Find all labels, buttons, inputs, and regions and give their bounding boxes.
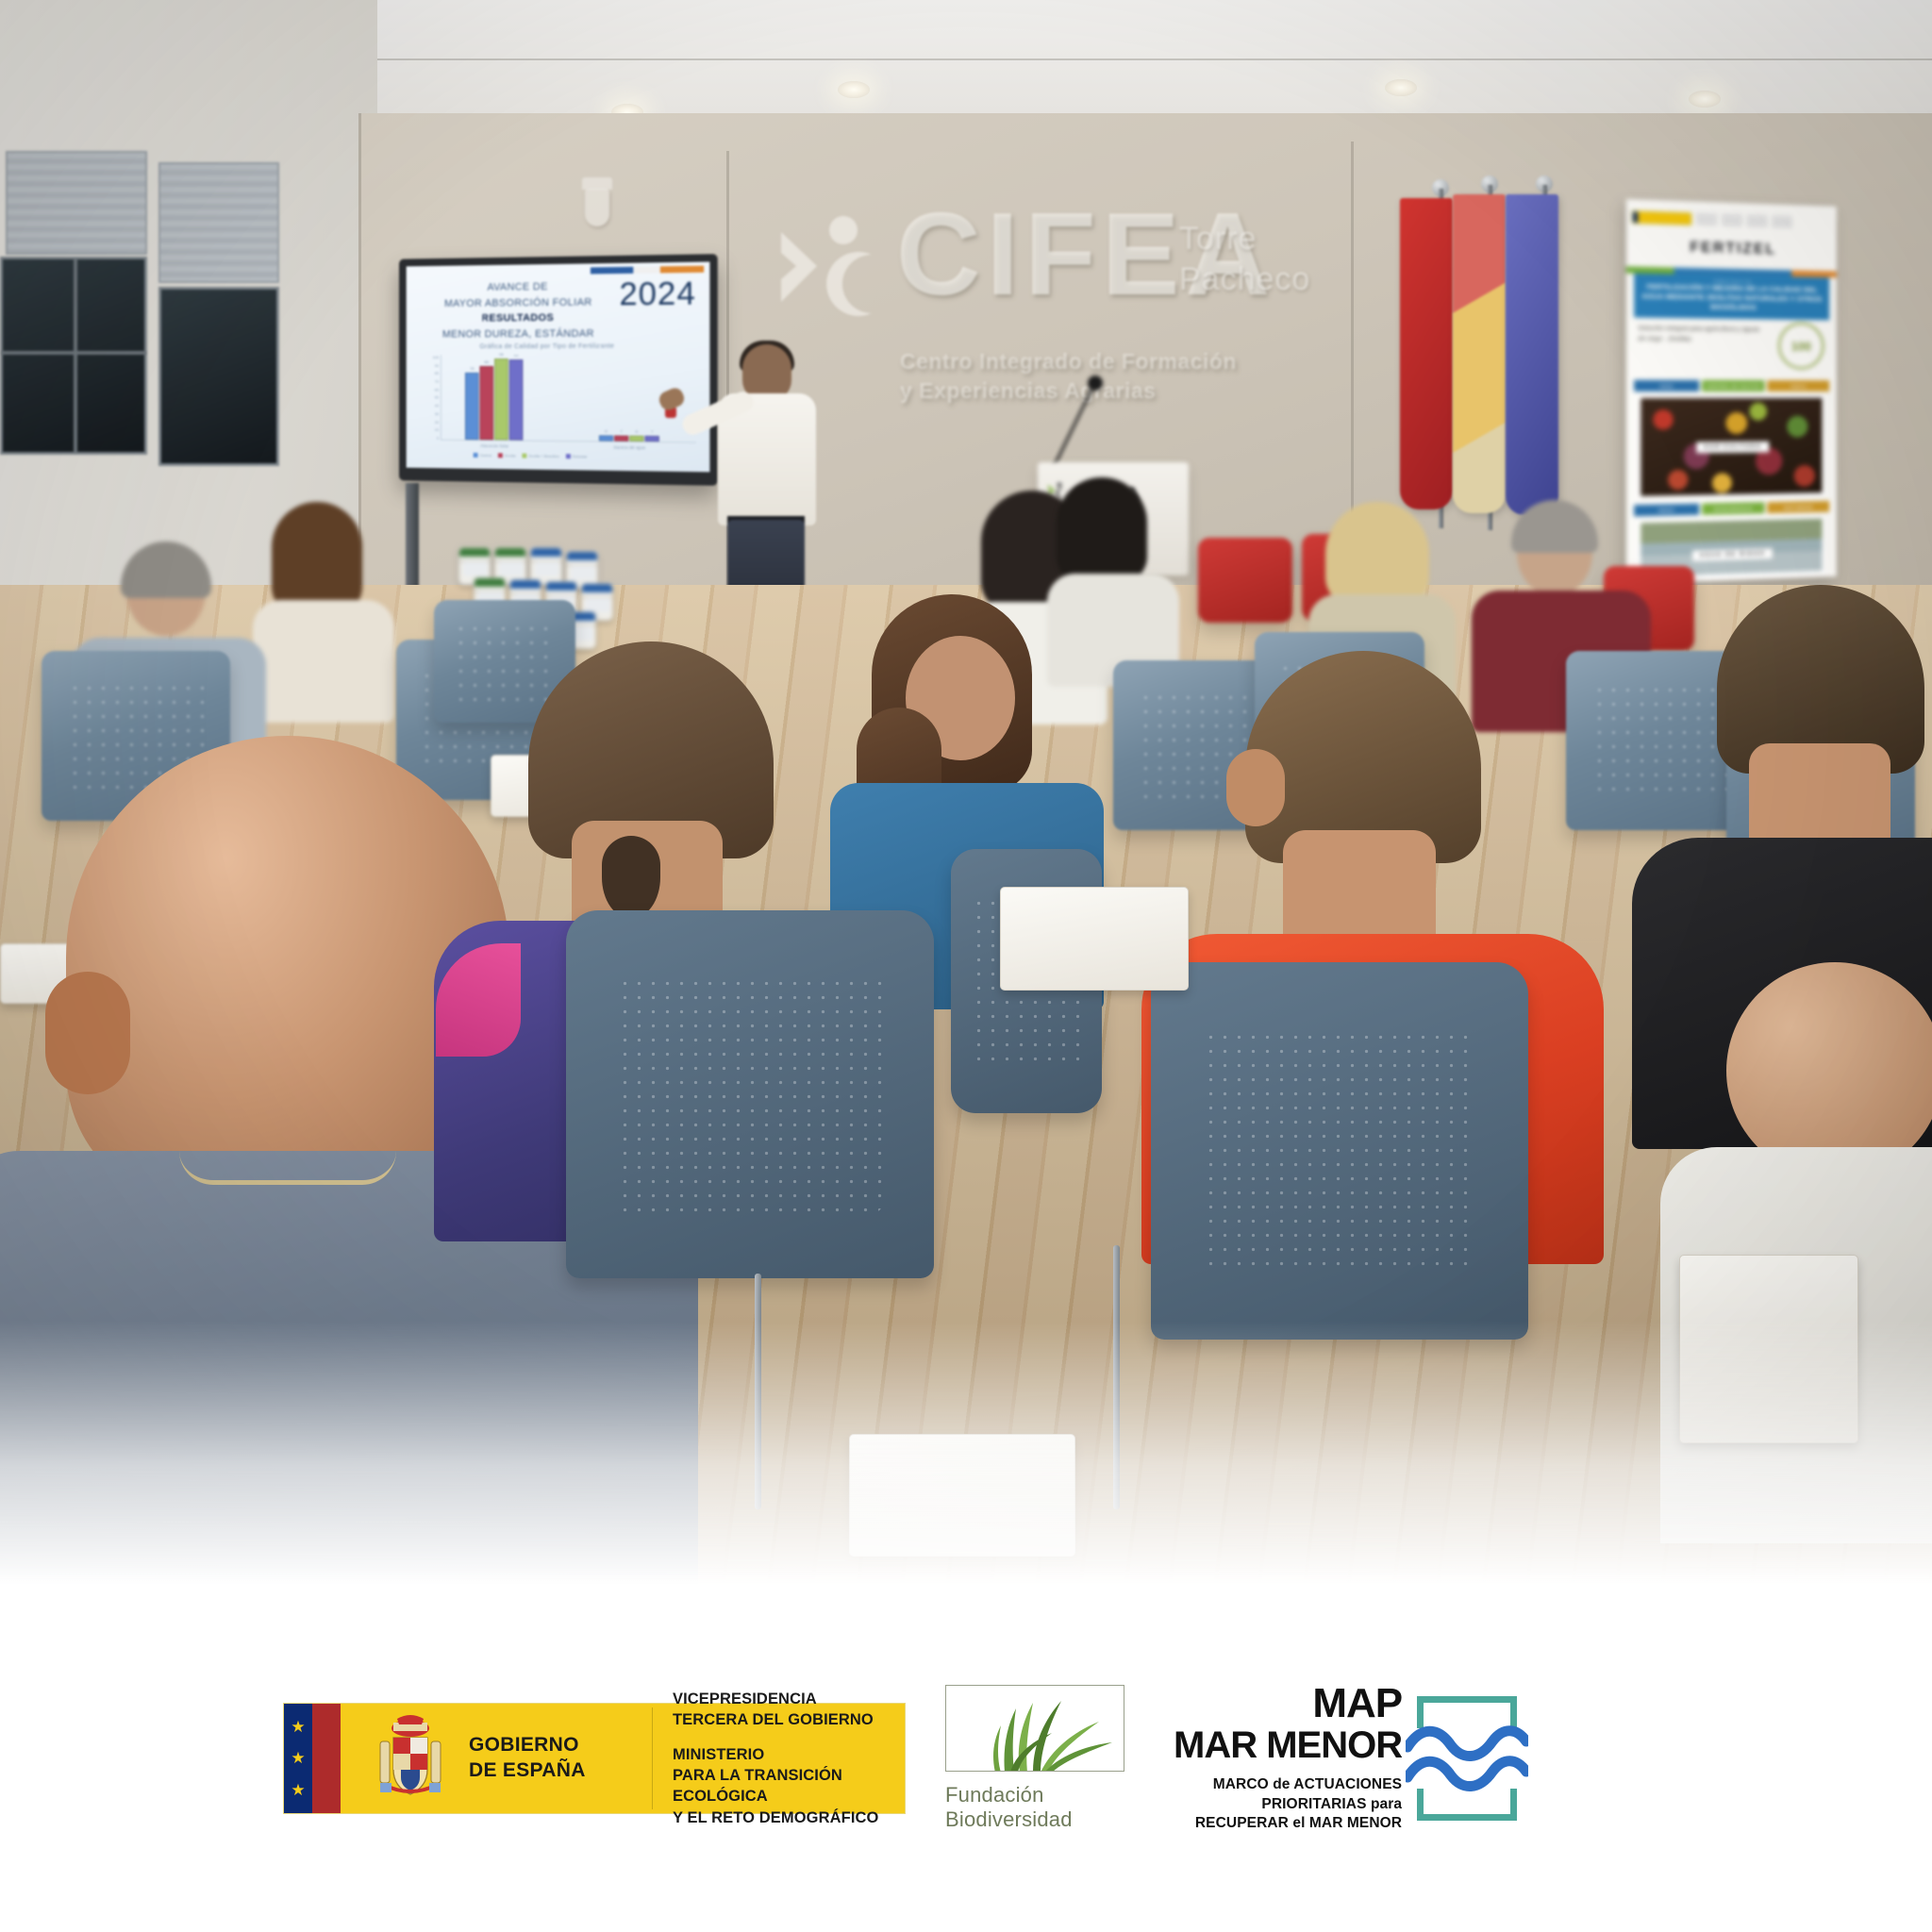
chair-writing-tablet — [849, 1434, 1075, 1557]
person-hair — [1325, 502, 1429, 606]
chart-y-tick: 20 — [435, 420, 439, 425]
slide-accent-bar — [591, 266, 704, 275]
chair — [566, 910, 934, 1278]
chart-bar: 7 — [645, 435, 659, 441]
window-blind — [158, 162, 279, 283]
logo-fundacion-biodiversidad: Fundación Biodiversidad — [945, 1685, 1134, 1832]
slide-bar-chart: 1009080706050403020100 78869593Absorción… — [419, 355, 700, 458]
jar-label — [499, 561, 524, 576]
rollup-project-band: PROYECTO FERTILIZACIÓN Y MEJORA DE LA CA… — [1634, 274, 1829, 321]
rollup-tab: CONTROL DE CULTIVO — [1702, 380, 1765, 391]
slide-title-strong: RESULTADOS — [481, 312, 554, 325]
rollup-tab: BIODIVERSIDAD — [1702, 502, 1765, 514]
eu-star-icon: ★ — [291, 1719, 305, 1735]
ministry-line4: PARA LA TRANSICIÓN ECOLÓGICA — [673, 1765, 905, 1807]
grass-icon — [946, 1686, 1124, 1772]
presenter-head — [742, 344, 791, 401]
chart-y-tick: 50 — [435, 395, 439, 400]
person-necklace — [179, 1151, 396, 1185]
chart-bar: 95 — [494, 358, 508, 441]
chart-bar-value-label: 95 — [499, 352, 503, 357]
partner-logo-icon — [1696, 212, 1717, 225]
window-mullion — [0, 351, 147, 355]
rollup-claim: Solución integral para agricultura y agu… — [1638, 325, 1760, 345]
spain-coat-of-arms-icon — [367, 1713, 454, 1804]
chart-y-tick: 80 — [435, 371, 439, 375]
ceiling-light — [838, 81, 870, 98]
ministry-text-block: VICEPRESIDENCIA TERCERA DEL GOBIERNO MIN… — [673, 1689, 905, 1828]
ministry-line2: TERCERA DEL GOBIERNO — [673, 1709, 905, 1730]
chart-plot-area: 78869593Absorción foliar6767Dureza del a… — [441, 355, 696, 443]
rollup-project-title: FERTILIZACIÓN Y MEJORA DE LA CALIDAD DEL… — [1639, 282, 1824, 313]
chart-legend-swatch — [522, 454, 526, 458]
gobierno-brand-line1: GOBIERNO — [469, 1733, 586, 1758]
ceiling-light — [1689, 91, 1721, 108]
jar-label — [571, 565, 595, 580]
fundacion-name: Fundación Biodiversidad — [945, 1783, 1134, 1832]
ministry-line1: VICEPRESIDENCIA — [673, 1689, 905, 1709]
slide-chart-caption: Gráfica de Calidad por Tipo de Fertiliza… — [431, 343, 665, 351]
chart-y-tick: 30 — [435, 411, 439, 416]
ministry-line5: Y EL RETO DEMOGRÁFICO — [673, 1807, 905, 1828]
slide-title: AVANCE DE MAYOR ABSORCIÓN FOLIAR RESULTA… — [426, 278, 611, 341]
map-text-block: MAP MAR MENOR MARCO de ACTUACIONES PRIOR… — [1174, 1683, 1402, 1833]
chart-legend-item: Control — [474, 453, 491, 458]
gobierno-divider — [652, 1707, 653, 1809]
chair — [1198, 538, 1292, 623]
jar-lid-icon — [567, 552, 597, 560]
slide-title-line1: AVANCE DE — [426, 278, 611, 296]
chart-bar-value-label: 7 — [621, 428, 623, 433]
chart-bar: 93 — [509, 360, 524, 441]
map-subtitle: MARCO de ACTUACIONES PRIORITARIAS para R… — [1174, 1775, 1402, 1833]
ceiling-light — [1385, 79, 1417, 96]
rollup-tabs-top: AGUA CONTROL DE CULTIVO SUELO — [1634, 380, 1829, 391]
chair-leg — [755, 1274, 761, 1509]
conference-room-photo: CIFEA Centro Integrado de Formación y Ex… — [0, 0, 1932, 1585]
eu-star-icon: ★ — [291, 1782, 305, 1798]
chair-leg — [1113, 1245, 1120, 1509]
crest-shield-icon — [585, 189, 609, 226]
chart-bar: 6 — [629, 436, 643, 441]
fundacion-grass-frame — [945, 1685, 1124, 1772]
logo-map-mar-menor: MAP MAR MENOR MARCO de ACTUACIONES PRIOR… — [1174, 1683, 1523, 1833]
person-tattoo — [602, 836, 660, 919]
rollup-photo-agricultura: AGRICULTURA — [1638, 395, 1824, 499]
window-blind — [6, 151, 147, 255]
chart-y-tick: 0 — [437, 436, 439, 441]
chair — [1151, 962, 1528, 1340]
rollup-logo-row — [1632, 207, 1831, 232]
slide-surface: 2024 AVANCE DE MAYOR ABSORCIÓN FOLIAR RE… — [407, 261, 710, 472]
chart-bar-value-label: 86 — [485, 359, 489, 364]
chart-bar: 86 — [479, 366, 493, 440]
murcia-crest — [524, 175, 665, 249]
chart-category-label: Dureza del agua — [614, 445, 645, 450]
slide-title-line2a: MAYOR ABSORCIÓN FOLIAR — [444, 296, 592, 308]
chart-y-axis: 1009080706050403020100 — [419, 355, 439, 440]
jar-lid-icon — [510, 580, 541, 589]
chart-legend-item: Zeolita — [498, 453, 516, 458]
person-hair — [272, 502, 362, 615]
jar-label — [586, 597, 610, 612]
slide-title-line2b: MENOR DUREZA, ESTÁNDAR — [426, 325, 611, 341]
chart-legend-item: Estándar — [566, 454, 588, 459]
map-sub-line1: MARCO de ACTUACIONES — [1174, 1775, 1402, 1794]
chair-writing-tablet — [1000, 887, 1189, 991]
ministry-line3: MINISTERIO — [673, 1744, 905, 1765]
gobierno-brand-line2: DE ESPAÑA — [469, 1758, 586, 1784]
person-hair — [1057, 477, 1147, 583]
map-sub-line2: PRIORITARIAS para — [1174, 1795, 1402, 1814]
rollup-photo-caption: AGUA DE RIEGO — [1692, 548, 1774, 562]
chart-y-tick: 90 — [435, 363, 439, 368]
partner-logo-icon — [1722, 213, 1742, 226]
chart-category-label: Absorción foliar — [480, 443, 508, 448]
rollup-photo-caption: AGRICULTURA — [1696, 441, 1769, 454]
jar-lid-icon — [582, 584, 612, 592]
flag-spain — [1453, 194, 1506, 513]
map-title-line2: MAR MENOR — [1174, 1724, 1402, 1766]
map-title-line1: MAP — [1174, 1683, 1402, 1724]
chart-y-tick: 70 — [435, 379, 439, 384]
rollup-banner: FERTIZEL PROYECTO FERTILIZACIÓN Y MEJORA… — [1626, 199, 1837, 584]
chart-bar-value-label: 6 — [636, 429, 638, 434]
chart-bar-value-label: 6 — [605, 429, 607, 434]
chart-bar-group: 6767Dureza del agua — [599, 435, 660, 441]
rollup-tabs-bottom: RIEGO BIODIVERSIDAD MAR MENOR — [1634, 501, 1829, 517]
chart-legend-swatch — [474, 453, 478, 458]
spain-red-bar-icon — [312, 1704, 341, 1813]
jar-lid-icon — [459, 548, 490, 557]
jar-lid-icon — [495, 548, 525, 557]
rollup-tab: RIEGO — [1634, 504, 1699, 517]
chart-y-tick: 40 — [435, 403, 439, 408]
cifea-subtitle: Centro Integrado de Formación y Experien… — [900, 347, 1237, 406]
person-ear — [45, 972, 130, 1094]
spain-eu-flag-strip-icon: ★ ★ ★ — [284, 1704, 341, 1813]
rollup-seal-icon: 100 — [1778, 323, 1824, 370]
eu-star-icon: ★ — [291, 1750, 305, 1766]
eu-flag-icon: ★ ★ ★ — [284, 1704, 312, 1813]
chart-legend-swatch — [498, 453, 503, 458]
slide-year: 2024 — [619, 275, 695, 313]
chart-y-tick: 10 — [435, 427, 439, 432]
chart-legend-swatch — [566, 454, 571, 458]
chart-bar: 6 — [599, 436, 613, 441]
jar-label — [463, 561, 488, 576]
logo-gobierno-de-espana: ★ ★ ★ — [283, 1703, 906, 1814]
gobierno-yellow-panel: GOBIERNO DE ESPAÑA VICEPRESIDENCIA TERCE… — [341, 1704, 905, 1813]
map-waves-icon — [1406, 1721, 1528, 1796]
microphone-head-icon — [1088, 375, 1103, 391]
map-sub-line3: RECUPERAR el MAR MENOR — [1174, 1814, 1402, 1833]
jar-lid-icon — [546, 582, 576, 591]
jar-lid-icon — [531, 548, 561, 557]
rollup-tab: MAR MENOR — [1768, 501, 1829, 513]
chart-bar-value-label: 93 — [514, 354, 518, 358]
chart-legend-item: Zeolita + Biosólido — [522, 453, 558, 458]
window-mullion — [74, 258, 77, 453]
slide-title-overlap: MAYOR ABSORCIÓN FOLIAR RESULTADOS — [426, 294, 611, 327]
rollup-tab: SUELO — [1768, 380, 1829, 391]
chart-bar-value-label: 78 — [470, 366, 474, 371]
person-ear — [1226, 749, 1285, 826]
chart-bar: 7 — [614, 435, 628, 441]
chart-legend: ControlZeolitaZeolita + BiosólidoEstánda… — [474, 453, 588, 459]
gobierno-logo-icon — [1632, 210, 1691, 225]
partner-logo-icon — [1747, 214, 1768, 227]
chart-bar-value-label: 7 — [651, 428, 653, 433]
chart-bar-group: 78869593Absorción foliar — [465, 358, 524, 441]
presentation-screen: 2024 AVANCE DE MAYOR ABSORCIÓN FOLIAR RE… — [399, 254, 718, 486]
chair-writing-tablet — [1679, 1255, 1858, 1443]
partner-logo-icon — [1772, 215, 1791, 228]
chart-y-tick: 60 — [435, 387, 439, 391]
flag-european-union — [1506, 194, 1558, 515]
jar-lid-icon — [475, 578, 505, 587]
gobierno-brand-text: GOBIERNO DE ESPAÑA — [469, 1733, 586, 1784]
map-emblem — [1411, 1696, 1523, 1821]
ministry-spacer — [673, 1731, 905, 1744]
rollup-tab: AGUA — [1634, 380, 1699, 391]
chart-y-tick: 100 — [433, 355, 439, 359]
cifea-location-label: Torre Pacheco — [1179, 219, 1310, 299]
flag-murcia — [1400, 198, 1453, 509]
footer-logo-bar: ★ ★ ★ — [0, 1585, 1932, 1932]
chart-bar: 78 — [465, 373, 479, 440]
rollup-brand: FERTIZEL — [1626, 238, 1837, 260]
window-glass — [158, 287, 279, 466]
person-torso — [253, 600, 394, 723]
jar-label — [535, 561, 559, 576]
cifea-logo-icon — [774, 209, 887, 332]
